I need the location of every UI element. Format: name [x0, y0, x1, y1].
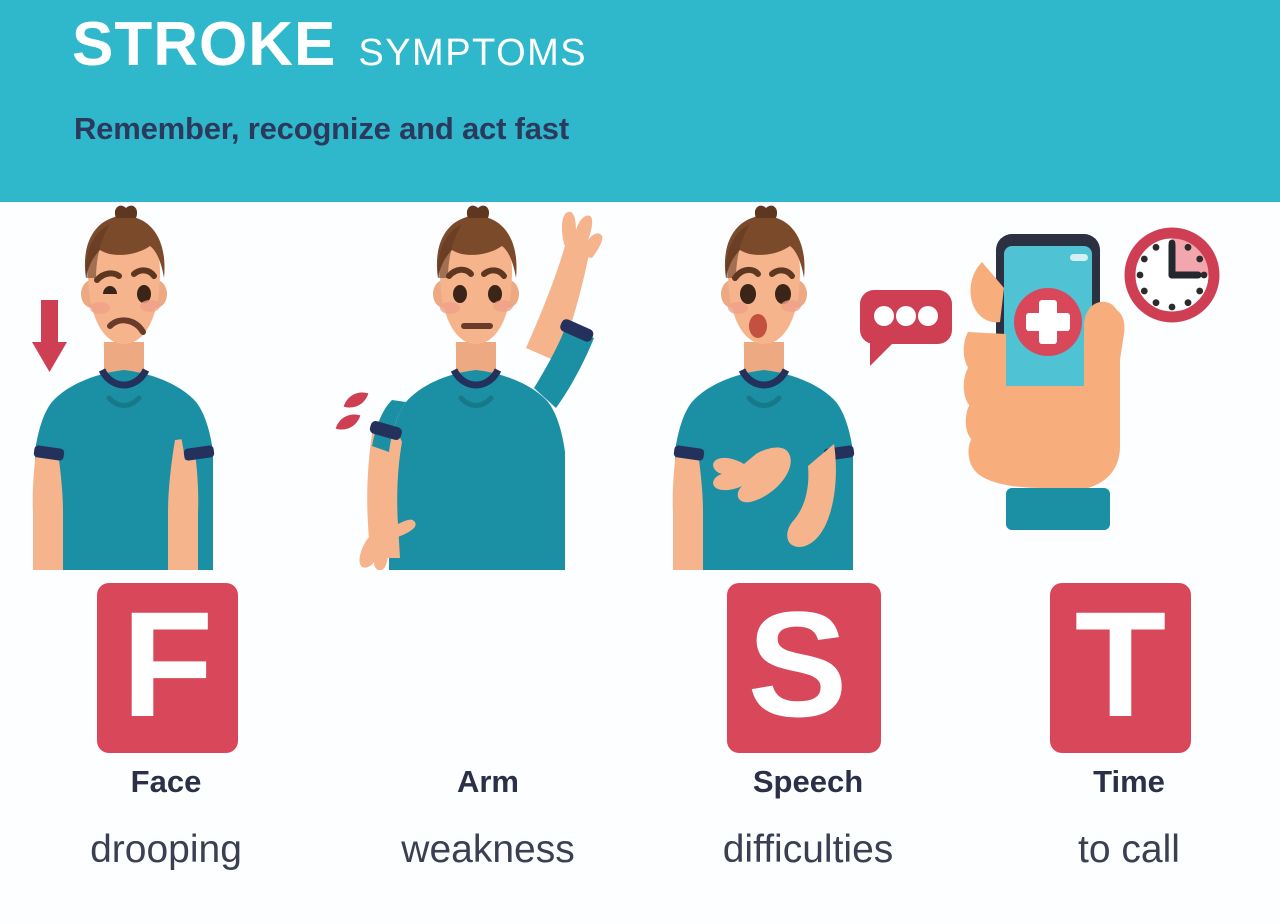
- caption-sub-arm: weakness: [328, 830, 648, 869]
- letter-tile-s: S: [727, 583, 868, 753]
- infographic-page: STROKE SYMPTOMS Remember, recognize and …: [0, 0, 1280, 924]
- symptom-column-time: T Time to call: [960, 202, 1280, 924]
- speech-bubble-icon: [860, 290, 952, 366]
- caption-title-face: Face: [6, 766, 326, 797]
- letter-t: T: [1075, 589, 1167, 739]
- symptom-column-face: F Face drooping: [8, 202, 328, 924]
- page-title: STROKE SYMPTOMS: [72, 14, 587, 76]
- caption-sub-speech: difficulties: [648, 830, 968, 869]
- caption-title-time: Time: [969, 766, 1280, 797]
- letter-tile-t: T: [1050, 583, 1191, 753]
- letter-tile-f: F: [97, 583, 238, 753]
- clock-icon: [1130, 233, 1214, 317]
- motion-arcs-icon: [333, 388, 371, 434]
- letter-s: S: [747, 589, 847, 739]
- time-illustration: [960, 202, 1280, 570]
- caption-title-speech: Speech: [648, 766, 968, 797]
- man-speech-difficulty-svg: [648, 202, 968, 570]
- symptom-column-speech: S Speech difficulties: [648, 202, 968, 924]
- caption-sub-face: drooping: [6, 830, 326, 869]
- man-drooping-face-svg: [8, 202, 328, 570]
- arm-illustration: [328, 202, 648, 570]
- down-arrow-icon: [32, 300, 67, 372]
- header-banner: STROKE SYMPTOMS Remember, recognize and …: [0, 0, 1280, 202]
- sleeve-cuff: [1006, 488, 1110, 530]
- letter-f: F: [122, 589, 214, 739]
- speech-illustration: [648, 202, 968, 570]
- medical-cross-icon: [1014, 288, 1082, 356]
- caption-sub-time: to call: [969, 830, 1280, 869]
- man-arm-weakness-svg: [328, 202, 648, 570]
- caption-title-arm: Arm: [328, 766, 648, 797]
- title-main: STROKE: [72, 14, 336, 76]
- tagline: Remember, recognize and act fast: [74, 110, 569, 147]
- symptom-columns: F Face drooping: [0, 202, 1280, 924]
- symptom-column-arm: A Arm weakness: [328, 202, 648, 924]
- phone-and-clock-svg: [960, 202, 1280, 570]
- title-subword: SYMPTOMS: [358, 34, 587, 72]
- face-illustration: [8, 202, 328, 570]
